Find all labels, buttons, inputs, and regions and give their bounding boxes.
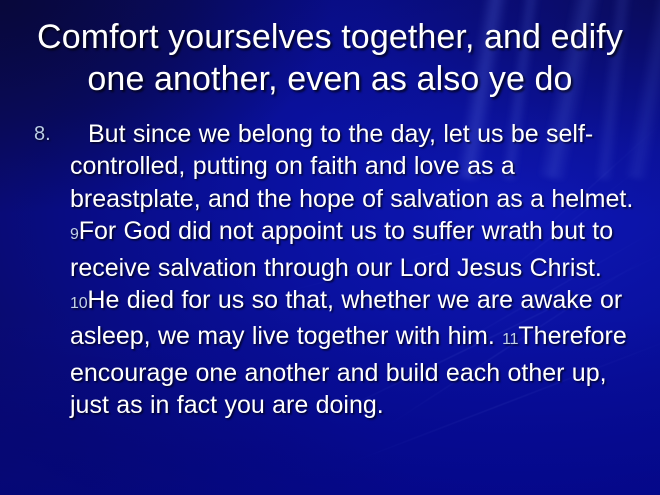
verse-number: 9 [70,226,79,243]
scripture-paragraph: But since we belong to the day, let us b… [70,118,648,422]
slide-body: 8. But since we belong to the day, let u… [24,118,648,422]
verse-number: 10 [70,295,87,312]
verse-number: 11 [502,331,518,348]
paragraph-text: But since we belong to the day, let us b… [70,120,633,213]
slide-title: Comfort yourselves together, and edify o… [14,16,646,100]
presentation-slide: Comfort yourselves together, and edify o… [0,0,660,495]
paragraph-text: For God did not appoint us to suffer wra… [70,217,613,281]
list-item-marker: 8. [24,118,70,150]
